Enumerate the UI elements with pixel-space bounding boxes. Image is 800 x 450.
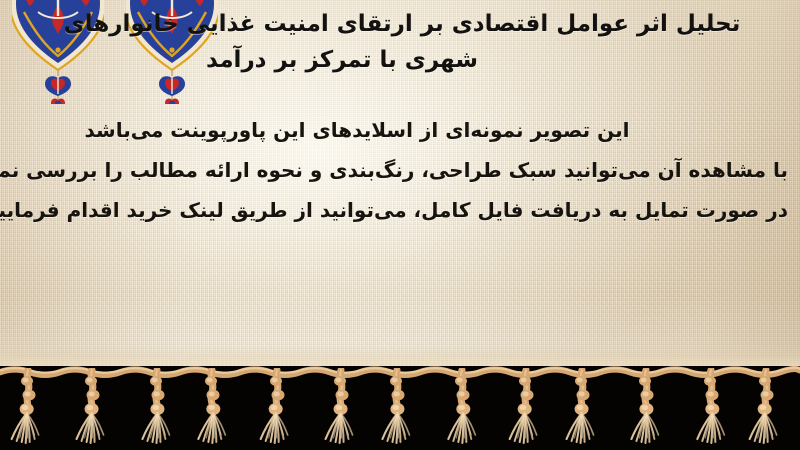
fringe-tassel [504, 368, 548, 450]
slide-text-layer: تحلیل اثر عوامل اقتصادی بر ارتقای امنیت … [0, 0, 800, 378]
presentation-slide: تحلیل اثر عوامل اقتصادی بر ارتقای امنیت … [0, 0, 800, 450]
fringe-tassel [744, 368, 788, 450]
fringe-tassel [70, 368, 114, 450]
fringe-tassel [560, 368, 604, 450]
fringe-tassel [190, 368, 234, 450]
title-line-1: تحلیل اثر عوامل اقتصادی بر ارتقای امنیت … [22, 6, 782, 42]
title-line-2: شهری با تمرکز بر درآمد [22, 42, 782, 78]
carpet-fringe-band [0, 366, 800, 450]
slide-title: تحلیل اثر عوامل اقتصادی بر ارتقای امنیت … [22, 6, 782, 78]
body-line-1: این تصویر نمونه‌ای از اسلایدهای این پاور… [12, 110, 788, 150]
slide-body: این تصویر نمونه‌ای از اسلایدهای این پاور… [12, 110, 788, 230]
fringe-tassel [375, 368, 419, 450]
fringe-tassel [255, 368, 299, 450]
fringe-tassel [440, 368, 484, 450]
fringe-tassel [689, 368, 733, 450]
body-line-3: در صورت تمایل به دریافت فایل کامل، می‌تو… [12, 190, 788, 230]
fringe-tassel [319, 368, 363, 450]
fringe-tassel [135, 368, 179, 450]
fringe-tassel [624, 368, 668, 450]
fringe-tassel [6, 368, 50, 450]
body-line-2: با مشاهده آن می‌توانید سبک طراحی، رنگ‌بن… [12, 150, 788, 190]
